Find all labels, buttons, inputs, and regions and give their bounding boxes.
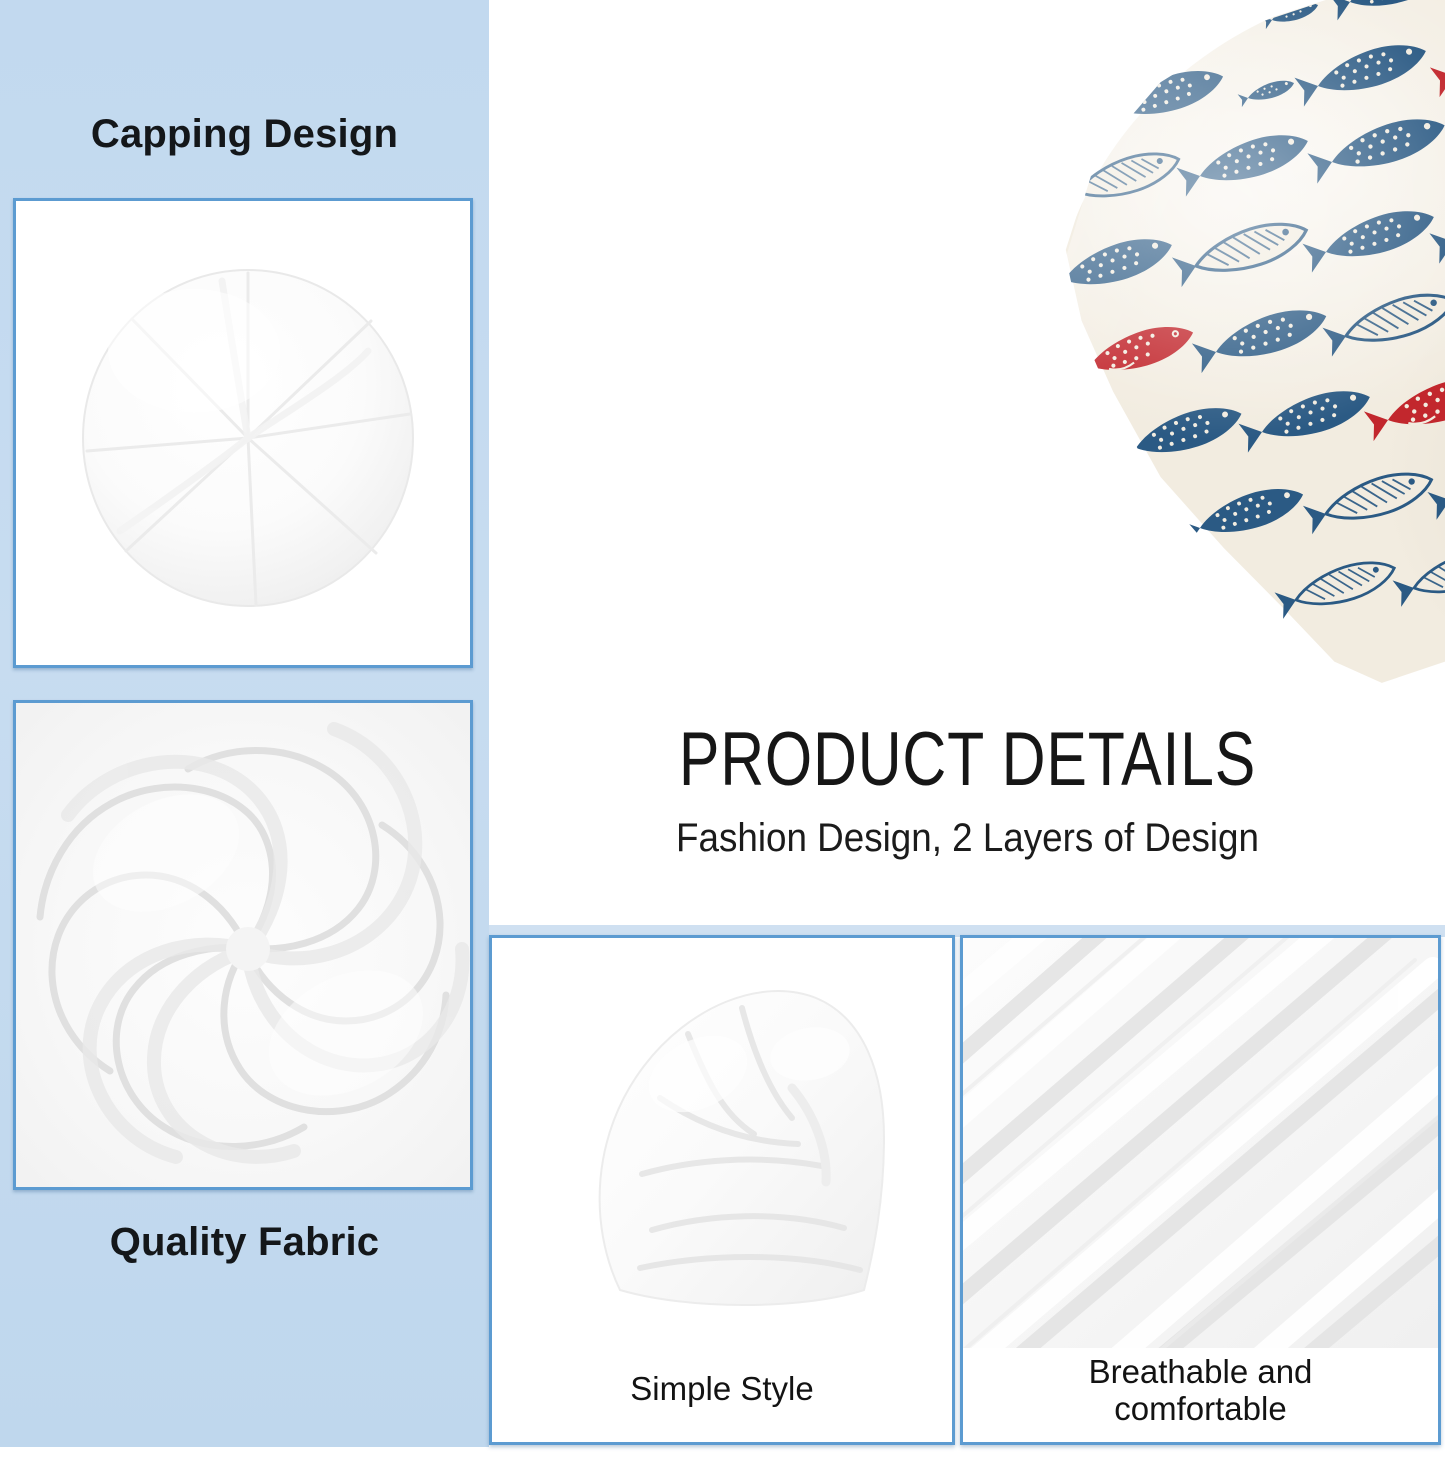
quality-fabric-photo (13, 700, 473, 1190)
simple-style-caption: Simple Style (492, 1371, 952, 1408)
fish-pattern-layer (1050, 0, 1445, 710)
cap-illustration (16, 201, 470, 665)
left-panel: Capping Design (0, 0, 489, 1447)
breathable-fabric-photo (963, 938, 1438, 1348)
headline-block: PRODUCT DETAILS Fashion Design, 2 Layers… (490, 722, 1445, 861)
simple-style-photo (492, 938, 952, 1348)
page-subtitle: Fashion Design, 2 Layers of Design (528, 816, 1407, 861)
breathable-comfortable-caption: Breathable and comfortable (963, 1354, 1438, 1428)
capping-design-title: Capping Design (0, 112, 489, 157)
product-detail-page: Capping Design (0, 0, 1445, 1467)
breathable-comfortable-card: Breathable and comfortable (960, 935, 1441, 1445)
fabric-folds-illustration (963, 938, 1438, 1348)
fish-pattern-beanie (1050, 0, 1445, 710)
fabric-swirl-illustration (16, 703, 470, 1187)
quality-fabric-title: Quality Fabric (0, 1220, 489, 1265)
page-title: PRODUCT DETAILS (586, 722, 1350, 798)
capping-design-photo (13, 198, 473, 668)
simple-style-card: Simple Style (489, 935, 955, 1445)
beanie-illustration (492, 938, 952, 1348)
